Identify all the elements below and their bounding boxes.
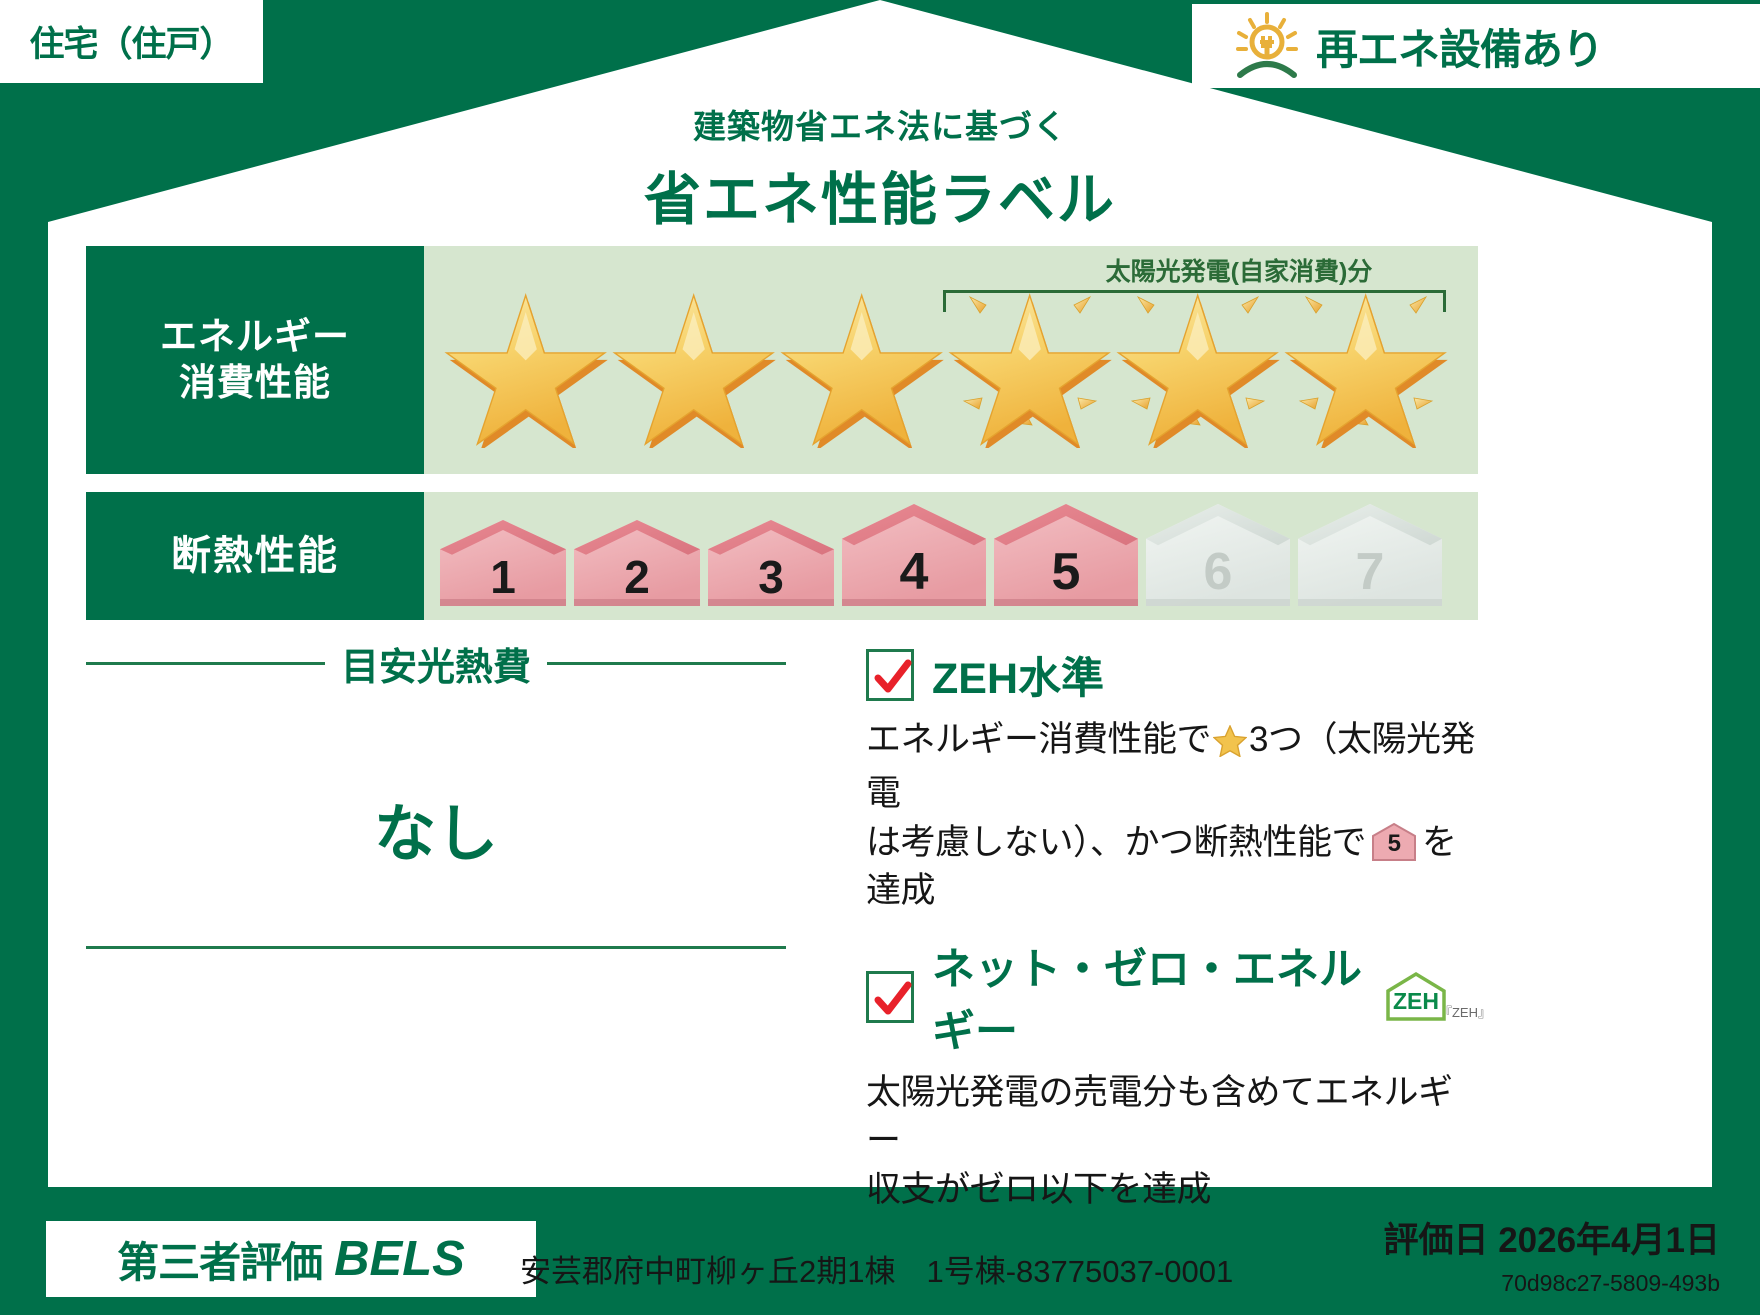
solar-plug-icon xyxy=(1230,11,1304,81)
renewable-equipment-label: 再エネ設備あり xyxy=(1316,16,1603,77)
insulation-grade-value: 4 xyxy=(838,542,990,602)
zeh-standard-description: エネルギー消費性能で3つ（太陽光発電は考慮しない）、かつ断熱性能で5を達成 xyxy=(866,716,1486,915)
bels-badge: 第三者評価 BELS xyxy=(46,1221,536,1297)
insulation-grade-value: 1 xyxy=(436,550,570,604)
bels-jp-label: 第三者評価 xyxy=(117,1229,322,1290)
insulation-grade-value: 7 xyxy=(1294,542,1446,602)
page-title: 省エネ性能ラベル xyxy=(0,154,1760,236)
insulation-grade-6: 6 xyxy=(1142,502,1294,610)
star-4-icon xyxy=(946,273,1114,448)
rule-right xyxy=(547,662,786,665)
energy-label-line2: 消費性能 xyxy=(179,360,331,406)
nze-desc-line1: 太陽光発電の売電分も含めてエネルギー xyxy=(866,1073,1453,1160)
utility-cost-block: 目安光熱費 なし xyxy=(86,636,786,873)
energy-performance-row: エネルギー 消費性能 太陽光発電(自家消費)分 xyxy=(86,246,1478,474)
energy-performance-label: エネルギー 消費性能 xyxy=(86,246,424,474)
check-icon xyxy=(872,978,914,1022)
renewable-equipment-badge: 再エネ設備あり xyxy=(1192,4,1760,88)
insulation-grade-3: 3 xyxy=(704,518,838,610)
inline-star-icon xyxy=(1213,722,1247,770)
bels-en-label: BELS xyxy=(334,1231,465,1287)
utility-cost-bottom-rule xyxy=(86,946,786,949)
check-icon xyxy=(872,656,914,700)
building-type-label: 住宅（住戸） xyxy=(29,16,233,67)
insulation-performance-label: 断熱性能 xyxy=(86,492,424,620)
insulation-grade-4: 4 xyxy=(838,502,990,610)
svg-text:ZEH: ZEH xyxy=(1393,988,1439,1014)
nze-desc-line2: 収支がゼロ以下を達成 xyxy=(866,1170,1211,1209)
insulation-grade-value: 2 xyxy=(570,550,704,604)
energy-performance-body: 太陽光発電(自家消費)分 xyxy=(424,246,1478,474)
net-zero-energy-description: 太陽光発電の売電分も含めてエネルギー収支がゼロ以下を達成 xyxy=(866,1069,1486,1214)
zeh-standard-row: ZEH水準 xyxy=(866,644,1486,706)
zeh-desc-pre: エネルギー消費性能で xyxy=(866,720,1211,759)
insulation-performance-body: 1 2 xyxy=(424,492,1478,620)
insulation-grade-5: 5 xyxy=(990,502,1142,610)
utility-cost-value: なし xyxy=(86,783,786,873)
utility-cost-heading: 目安光熱費 xyxy=(325,636,547,691)
label-title-block: 建築物省エネ法に基づく 省エネ性能ラベル xyxy=(0,100,1760,236)
zeh-logo-icon: ZEH 『ZEH』 xyxy=(1382,971,1486,1023)
insulation-grade-scale: 1 2 xyxy=(424,492,1478,620)
star-rating xyxy=(424,246,1478,474)
net-zero-energy-title: ネット・ゼロ・エネルギー xyxy=(932,935,1370,1059)
property-address: 安芸郡府中町柳ヶ丘2期1棟 1号棟-83775037-0001 xyxy=(520,1246,1233,1291)
net-zero-energy-checkbox[interactable] xyxy=(866,971,914,1023)
building-type-badge: 住宅（住戸） xyxy=(0,0,263,83)
energy-label-line1: エネルギー xyxy=(160,314,350,360)
insulation-grade-1: 1 xyxy=(436,518,570,610)
insulation-grade-value: 3 xyxy=(704,550,838,604)
evaluation-id: 70d98c27-5809-493b xyxy=(1501,1270,1720,1297)
rule-left xyxy=(86,662,325,665)
title-subtitle: 建築物省エネ法に基づく xyxy=(0,100,1760,148)
zeh-desc-line2-pre: は考慮しない）、かつ断熱性能で xyxy=(866,823,1366,862)
insulation-performance-row: 断熱性能 1 xyxy=(86,492,1478,620)
bels-energy-label: 住宅（住戸） 再エネ設備あり xyxy=(0,0,1760,1315)
zeh-standard-checkbox[interactable] xyxy=(866,649,914,701)
star-3-icon xyxy=(778,273,946,448)
insulation-grade-7: 7 xyxy=(1294,502,1446,610)
svg-text:『ZEH』: 『ZEH』 xyxy=(1439,1005,1486,1020)
insulation-grade-2: 2 xyxy=(570,518,704,610)
evaluation-date: 評価日 2026年4月1日 xyxy=(1383,1212,1720,1263)
zeh-criteria-block: ZEH水準 エネルギー消費性能で3つ（太陽光発電は考慮しない）、かつ断熱性能で5… xyxy=(866,644,1486,1214)
insulation-grade-value: 6 xyxy=(1142,542,1294,602)
utility-cost-heading-row: 目安光熱費 xyxy=(86,636,786,691)
insulation-grade-value: 5 xyxy=(990,542,1142,602)
net-zero-energy-row: ネット・ゼロ・エネルギー ZEH 『ZEH』 xyxy=(866,935,1486,1059)
zeh-standard-title: ZEH水準 xyxy=(932,644,1104,706)
star-2-icon xyxy=(610,273,778,448)
inline-grade-badge: 5 xyxy=(1371,822,1417,862)
star-5-icon xyxy=(1114,273,1282,448)
star-1-icon xyxy=(442,273,610,448)
inline-grade-value: 5 xyxy=(1371,827,1417,860)
star-6-icon xyxy=(1282,273,1450,448)
